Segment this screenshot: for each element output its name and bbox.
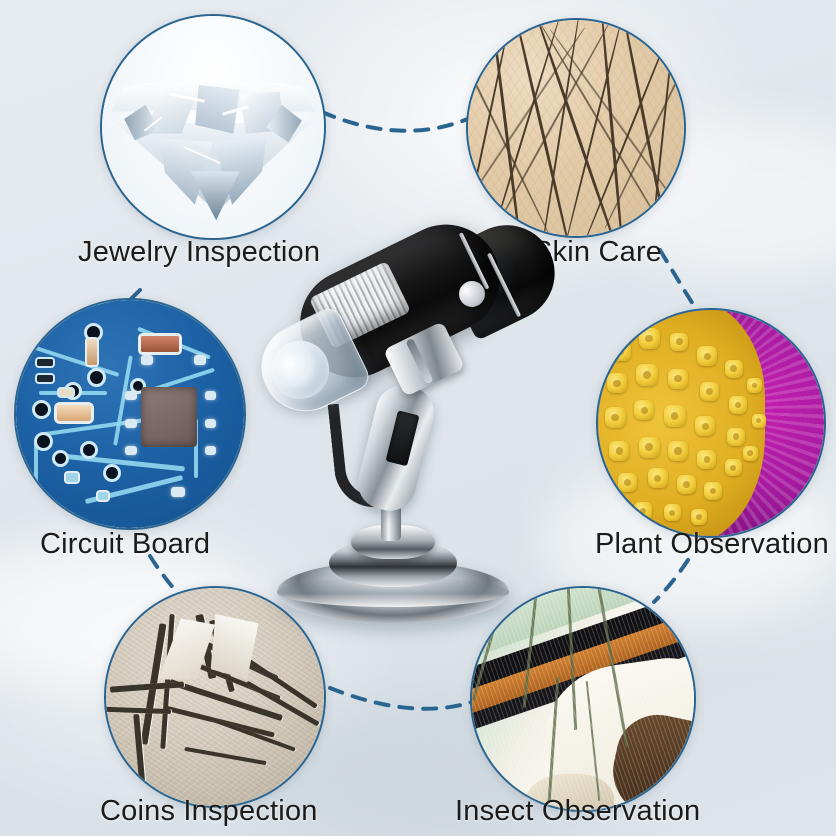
caption-plant: Plant Observation <box>595 528 829 561</box>
pcb-image <box>16 300 244 528</box>
lens-glass <box>261 331 339 409</box>
caption-coins: Coins Inspection <box>100 795 318 828</box>
bubble-skin[interactable] <box>466 18 686 238</box>
connector-jewelry-skin <box>322 112 470 131</box>
bubble-jewelry[interactable] <box>100 14 326 240</box>
skin-image <box>468 20 684 236</box>
flower-image <box>598 310 824 536</box>
connector-coins-insect <box>330 688 478 709</box>
diamond-image <box>102 16 324 238</box>
bubble-plant[interactable] <box>596 308 826 538</box>
collage-canvas: Jewelry Inspection Skin Care <box>0 0 836 836</box>
caption-circuit: Circuit Board <box>40 528 210 561</box>
arm-window <box>386 410 420 466</box>
usb-digital-microscope[interactable] <box>255 225 560 635</box>
caption-insect: Insect Observation <box>455 795 700 828</box>
bubble-circuit[interactable] <box>14 298 246 530</box>
connector-skin-plant <box>660 250 702 318</box>
